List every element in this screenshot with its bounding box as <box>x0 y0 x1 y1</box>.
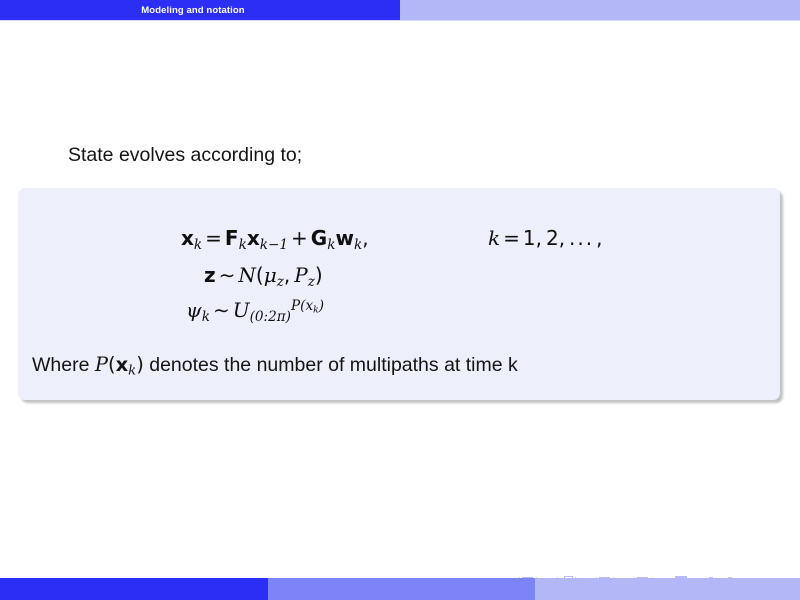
math-subscript-k: k <box>354 237 362 253</box>
headline-title: Modeling and notation <box>141 5 258 16</box>
intro-text: State evolves according to; <box>68 144 302 167</box>
footer-title-segment <box>268 578 535 600</box>
math-distributed-as: ∼ <box>210 298 233 322</box>
math-lparen: ( <box>108 353 116 376</box>
math-mu: μ <box>264 263 277 287</box>
math-subscript-k: k <box>194 237 202 253</box>
math-subscript-k: k <box>128 364 136 379</box>
footer-date-segment <box>535 578 800 600</box>
where-prefix: Where <box>32 354 95 376</box>
where-explanation: Where P(xk) denotes the number of multip… <box>32 353 518 377</box>
headline-light-segment <box>400 0 800 20</box>
math-psi: ψ <box>186 298 202 322</box>
slide-body: State evolves according to; xk=Fkxk−1+Gk… <box>0 21 800 571</box>
math-x-vector: x <box>247 226 260 250</box>
measurement-distribution: z∼N(μz, Pz) <box>204 263 323 288</box>
where-suffix: denotes the number of multipaths at time… <box>144 354 518 376</box>
math-comma: , <box>362 226 368 250</box>
math-plus: + <box>288 226 311 250</box>
math-subscript-k: k <box>313 305 319 316</box>
math-z-vector: z <box>204 263 216 287</box>
state-equation-condition: k=1, 2, . . . , <box>488 226 602 251</box>
math-subscript-k: k <box>239 237 247 253</box>
math-x-vector: x <box>181 226 194 250</box>
math-x-vector: x <box>116 353 129 376</box>
math-lparen: ( <box>256 263 264 287</box>
math-subscript-k-minus-1: k−1 <box>260 237 288 253</box>
math-subscript-k: k <box>202 309 210 325</box>
math-subscript-interval: (0:2π) <box>250 309 291 325</box>
footer-bar <box>0 578 800 600</box>
math-k-index: k <box>488 226 500 250</box>
state-equation: xk=Fkxk−1+Gkwk, <box>181 226 369 251</box>
phase-distribution: ψk∼U(0:2π)P(xk) <box>186 298 324 323</box>
math-subscript-z: z <box>277 274 284 290</box>
headline-dark-segment: Modeling and notation <box>0 0 400 20</box>
math-subscript-z: z <box>308 274 315 290</box>
math-equals: = <box>500 226 523 250</box>
math-P-function: P <box>95 353 108 376</box>
headline-bar: Modeling and notation <box>0 0 800 20</box>
math-range-values: 1, 2, . . . , <box>523 226 603 250</box>
math-F-matrix: F <box>225 226 239 250</box>
math-G-matrix: G <box>311 226 327 250</box>
math-rparen: ) <box>315 263 323 287</box>
math-comma: , <box>284 263 294 287</box>
equation-block: xk=Fkxk−1+Gkwk, k=1, 2, . . . , z∼N(μz, … <box>18 188 780 400</box>
math-uniform-dist: U <box>233 298 250 322</box>
math-distributed-as: ∼ <box>216 263 239 287</box>
math-w-vector: w <box>335 226 353 250</box>
footer-author-segment <box>0 578 268 600</box>
math-superscript-multipath-count: P(xk) <box>291 298 324 314</box>
math-rparen: ) <box>136 353 144 376</box>
math-normal-dist: N <box>238 263 256 287</box>
math-P-covariance: P <box>294 263 307 287</box>
math-equals: = <box>202 226 225 250</box>
